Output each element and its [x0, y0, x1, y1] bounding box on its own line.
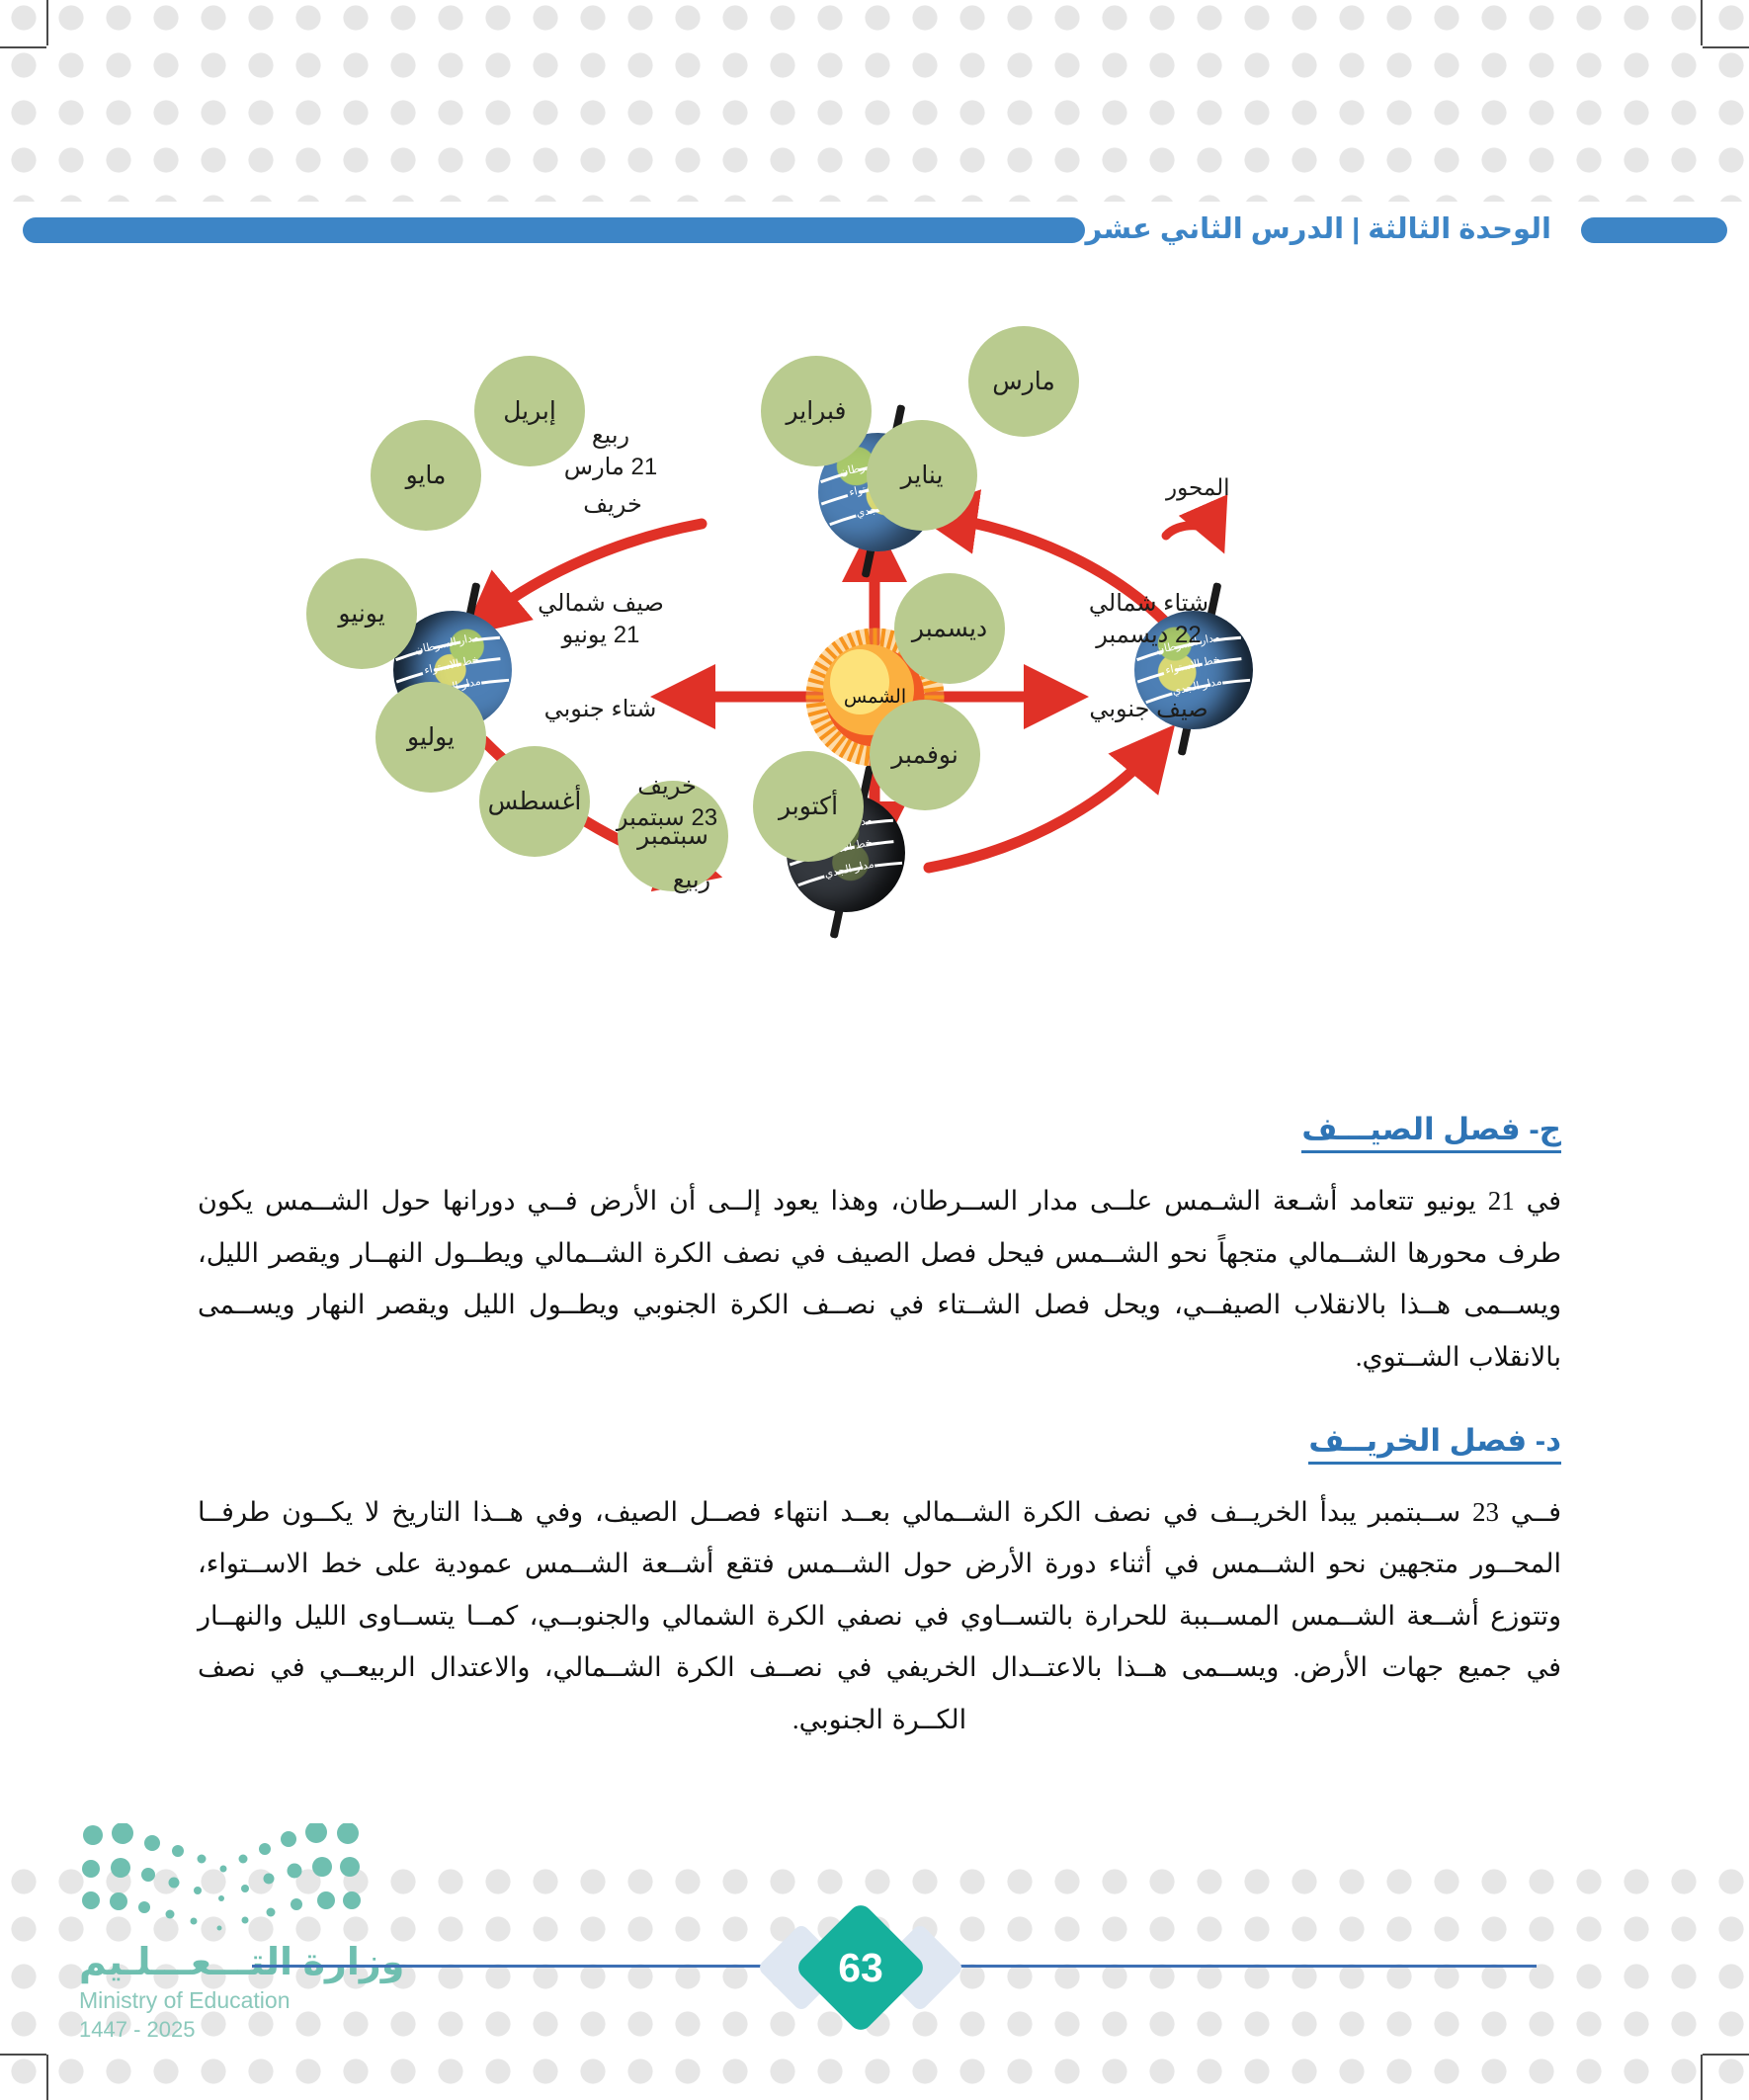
- axis-callout-label: المحور: [1166, 472, 1230, 503]
- crop-mark-top-right: [1701, 0, 1703, 45]
- label-tropic-capricorn: مدار الجدي: [823, 858, 874, 880]
- section-c-heading: ج- فصل الصيـــف: [1301, 1112, 1561, 1153]
- month-bubble-label: يوليو: [407, 722, 455, 752]
- season-note-spring-bottom: ربيع: [637, 865, 746, 896]
- season-note-line1: صيف شمالي: [522, 588, 680, 620]
- month-bubble: مايو: [371, 420, 481, 531]
- page-number-badge: 63: [813, 1920, 908, 2015]
- season-note-line1: خريف: [588, 771, 746, 802]
- ministry-name-english: Ministry of Education: [79, 1987, 290, 2014]
- month-bubble: مارس: [968, 326, 1079, 437]
- label-tropic-cancer: مدار السرطان: [414, 631, 480, 656]
- breadcrumb: الوحدة الثالثة | الدرس الثاني عشر: [1086, 211, 1552, 246]
- ministry-years: 2025 - 1447: [79, 2017, 195, 2043]
- crop-mark-bottom-left: [0, 2054, 46, 2056]
- season-note-line2: 21 مارس: [551, 452, 670, 483]
- earth-seasons-diagram: مدار السرطان خط الاستواء مدار الجدي مدار…: [375, 326, 1374, 1067]
- season-note-line1: ربيع: [637, 865, 746, 896]
- season-note-line1: صيف جنوبي: [1072, 694, 1225, 725]
- label-equator: خط الاستواء: [1164, 653, 1220, 676]
- season-note-autumn-top: خريف: [558, 489, 667, 521]
- lesson-content: ج- فصل الصيـــف في 21 يونيو تتعامد أشـعة…: [198, 1112, 1561, 1786]
- section-c-heading-row: ج- فصل الصيـــف: [198, 1112, 1561, 1175]
- season-note-line2: 23 سبتمبر: [588, 802, 746, 834]
- month-bubble: فبراير: [761, 356, 872, 466]
- page-number: 63: [813, 1920, 908, 2015]
- season-note-winter-south: شتاء جنوبي: [524, 694, 677, 725]
- season-note-line1: شتاء شمالي: [1067, 588, 1230, 620]
- header-pill-right: [1581, 217, 1727, 243]
- crop-mark-bottom-right: [1701, 2055, 1703, 2100]
- month-bubble: يونيو: [306, 558, 417, 669]
- month-bubble-label: إبريل: [503, 396, 556, 426]
- section-d-paragraph: فــي 23 ســبتمبر يبدأ الخريــف في نصف ال…: [198, 1486, 1561, 1746]
- sun-icon: الشمس: [798, 621, 952, 774]
- month-bubble-label: مايو: [406, 461, 447, 490]
- crop-mark-top-left: [0, 46, 46, 48]
- label-equator: خط الاستواء: [423, 653, 479, 676]
- month-bubble: يناير: [867, 420, 977, 531]
- decorative-dot-pattern-top: [0, 0, 1749, 202]
- season-note-line2: 21 يونيو: [522, 620, 680, 651]
- month-bubble: يوليو: [375, 682, 486, 793]
- month-bubble-label: أغسطس: [488, 787, 582, 816]
- moe-dot-emblem-icon: [79, 1823, 375, 1934]
- ministry-of-education-logo: وزارة التـــعـــلـيم Ministry of Educati…: [79, 1823, 405, 2041]
- crop-mark-bottom-left: [46, 2055, 48, 2100]
- season-note-winter-north: شتاء شمالي 22 ديسمبر: [1067, 588, 1230, 652]
- season-note-line1: ربيع: [551, 420, 670, 452]
- section-d-heading: د- فصل الخريــف: [1308, 1423, 1561, 1465]
- crop-mark-bottom-right: [1703, 2054, 1749, 2056]
- ministry-name-arabic: وزارة التـــعـــلـيم: [79, 1940, 404, 1984]
- sun-label: الشمس: [798, 621, 952, 774]
- month-bubble-label: يناير: [901, 461, 944, 490]
- season-note-line1: شتاء جنوبي: [524, 694, 677, 725]
- month-bubble: أغسطس: [479, 746, 590, 857]
- season-note-spring-top: ربيع 21 مارس: [551, 420, 670, 484]
- section-d-heading-row: د- فصل الخريــف: [198, 1423, 1561, 1486]
- month-bubble-label: يونيو: [338, 599, 384, 629]
- season-note-summer-south: صيف جنوبي: [1072, 694, 1225, 725]
- season-note-line1: خريف: [558, 489, 667, 521]
- crop-mark-top-right: [1703, 46, 1749, 48]
- season-note-line2: 22 ديسمبر: [1067, 620, 1230, 651]
- season-note-summer-north: صيف شمالي 21 يونيو: [522, 588, 680, 652]
- season-note-autumn-bottom: خريف 23 سبتمبر: [588, 771, 746, 835]
- crop-mark-top-left: [46, 0, 48, 45]
- month-bubble-label: فبراير: [787, 396, 847, 426]
- month-bubble-label: مارس: [992, 367, 1055, 396]
- section-c-paragraph: في 21 يونيو تتعامد أشـعة الشـمس علــى مد…: [198, 1175, 1561, 1384]
- page-header: الوحدة الثالثة | الدرس الثاني عشر: [0, 210, 1749, 253]
- header-bar-left: [23, 217, 1085, 243]
- month-bubble-label: أكتوبر: [779, 792, 838, 821]
